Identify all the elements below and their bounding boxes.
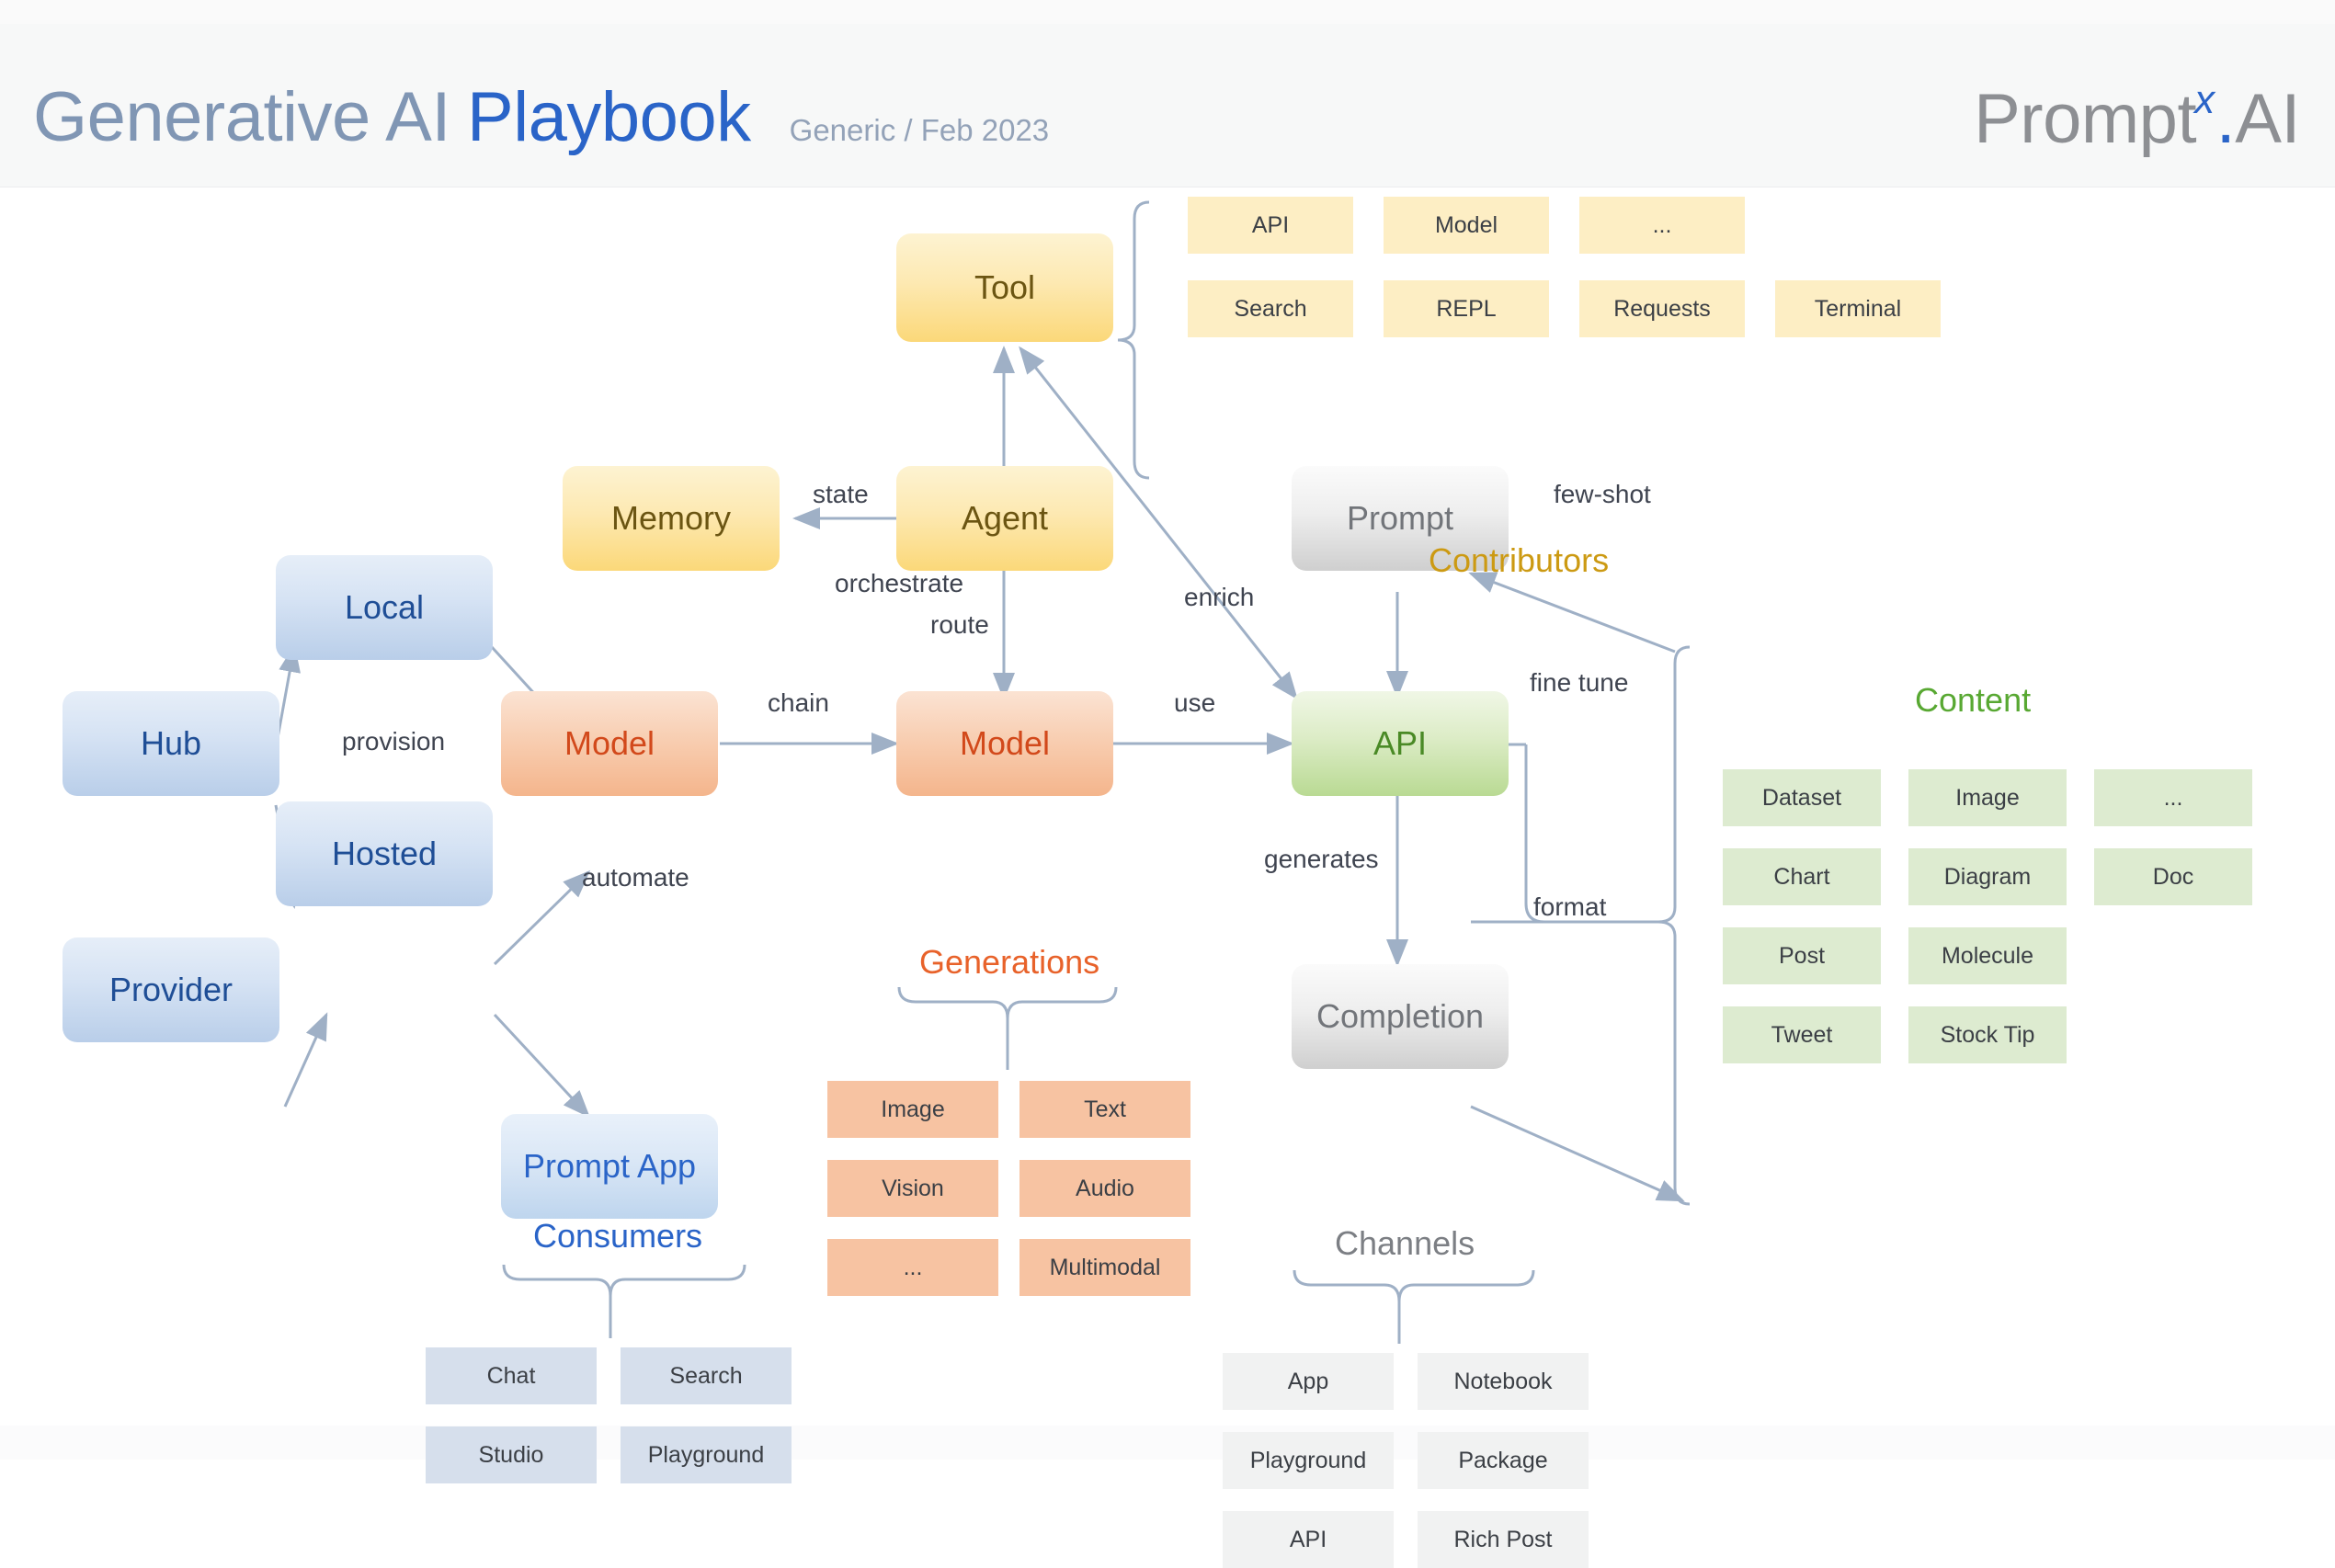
chip-content-stock-tip[interactable]: Stock Tip <box>1908 1006 2067 1063</box>
chip-contributor-repl[interactable]: REPL <box>1384 280 1549 337</box>
node-api[interactable]: API <box>1292 691 1509 796</box>
title-subtitle: Generic / Feb 2023 <box>790 113 1050 148</box>
group-caption-channels: Channels <box>1335 1224 1475 1263</box>
chip-content-post[interactable]: Post <box>1723 927 1881 984</box>
chip-content-image[interactable]: Image <box>1908 769 2067 826</box>
top-edge-artifact <box>0 0 2335 24</box>
group-caption-consumers: Consumers <box>533 1217 702 1256</box>
edge-label-automate: automate <box>582 863 689 892</box>
chip-contributor-api[interactable]: API <box>1188 197 1353 254</box>
node-model-center[interactable]: Model <box>896 691 1113 796</box>
chip-generation-multimodal[interactable]: Multimodal <box>1019 1239 1190 1296</box>
node-model-left[interactable]: Model <box>501 691 718 796</box>
edge-label-route: route <box>930 610 989 640</box>
logo-word: Prompt <box>1974 80 2196 158</box>
logo-superscript-x: x <box>2194 77 2215 122</box>
edge-label-state: state <box>813 480 869 509</box>
edge-label-generates: generates <box>1264 845 1379 874</box>
chip-content-dataset[interactable]: Dataset <box>1723 769 1881 826</box>
brand-logo: Promptx.AI <box>1974 79 2300 159</box>
chip-generation-more[interactable]: ... <box>827 1239 998 1296</box>
chip-content-more[interactable]: ... <box>2094 769 2252 826</box>
chip-channel-api[interactable]: API <box>1223 1511 1394 1568</box>
edge-label-chain: chain <box>768 688 829 718</box>
node-prompt-app[interactable]: Prompt App <box>501 1114 718 1219</box>
logo-dot: . <box>2216 80 2236 158</box>
diagram-body: Tool Memory Agent Prompt Local Hub Hoste… <box>0 187 2335 1426</box>
edge-label-enrich: enrich <box>1184 583 1254 612</box>
chip-consumer-chat[interactable]: Chat <box>426 1347 597 1404</box>
chip-channel-app[interactable]: App <box>1223 1353 1394 1410</box>
chip-channel-package[interactable]: Package <box>1418 1432 1589 1489</box>
page-title: Generative AI Playbook Generic / Feb 202… <box>33 77 1049 157</box>
chip-consumer-search[interactable]: Search <box>621 1347 792 1404</box>
node-hub[interactable]: Hub <box>63 691 279 796</box>
edge-label-few-shot: few-shot <box>1554 480 1651 509</box>
chip-generation-text[interactable]: Text <box>1019 1081 1190 1138</box>
chip-contributor-search[interactable]: Search <box>1188 280 1353 337</box>
edge-label-fine-tune: fine tune <box>1530 668 1628 698</box>
page-header: Generative AI Playbook Generic / Feb 202… <box>0 24 2335 187</box>
edge-label-orchestrate: orchestrate <box>835 569 963 598</box>
chip-channel-rich-post[interactable]: Rich Post <box>1418 1511 1589 1568</box>
chip-consumer-playground[interactable]: Playground <box>621 1426 792 1483</box>
edge-label-provision: provision <box>342 727 445 756</box>
chip-contributor-more[interactable]: ... <box>1579 197 1745 254</box>
chip-channel-notebook[interactable]: Notebook <box>1418 1353 1589 1410</box>
chip-generation-audio[interactable]: Audio <box>1019 1160 1190 1217</box>
edge-label-format: format <box>1533 892 1606 922</box>
chip-content-chart[interactable]: Chart <box>1723 848 1881 905</box>
bottom-edge-artifact <box>0 1426 2335 1460</box>
node-memory[interactable]: Memory <box>563 466 780 571</box>
edge-label-use: use <box>1174 688 1215 718</box>
node-agent[interactable]: Agent <box>896 466 1113 571</box>
title-generative-ai: Generative AI <box>33 77 450 157</box>
node-local[interactable]: Local <box>276 555 493 660</box>
group-caption-contributors: Contributors <box>1429 541 1609 580</box>
chip-generation-vision[interactable]: Vision <box>827 1160 998 1217</box>
group-caption-content: Content <box>1915 681 2031 720</box>
chip-content-molecule[interactable]: Molecule <box>1908 927 2067 984</box>
chip-channel-playground[interactable]: Playground <box>1223 1432 1394 1489</box>
group-caption-generations: Generations <box>919 943 1099 982</box>
chip-content-tweet[interactable]: Tweet <box>1723 1006 1881 1063</box>
chip-content-diagram[interactable]: Diagram <box>1908 848 2067 905</box>
logo-ai: AI <box>2235 80 2300 158</box>
node-tool[interactable]: Tool <box>896 233 1113 342</box>
chip-content-doc[interactable]: Doc <box>2094 848 2252 905</box>
chip-contributor-terminal[interactable]: Terminal <box>1775 280 1941 337</box>
chip-generation-image[interactable]: Image <box>827 1081 998 1138</box>
chip-contributor-model[interactable]: Model <box>1384 197 1549 254</box>
node-hosted[interactable]: Hosted <box>276 801 493 906</box>
chip-contributor-requests[interactable]: Requests <box>1579 280 1745 337</box>
diagram-canvas: Generative AI Playbook Generic / Feb 202… <box>0 0 2335 1460</box>
title-playbook: Playbook <box>467 77 751 157</box>
chip-consumer-studio[interactable]: Studio <box>426 1426 597 1483</box>
node-completion[interactable]: Completion <box>1292 964 1509 1069</box>
node-provider[interactable]: Provider <box>63 937 279 1042</box>
